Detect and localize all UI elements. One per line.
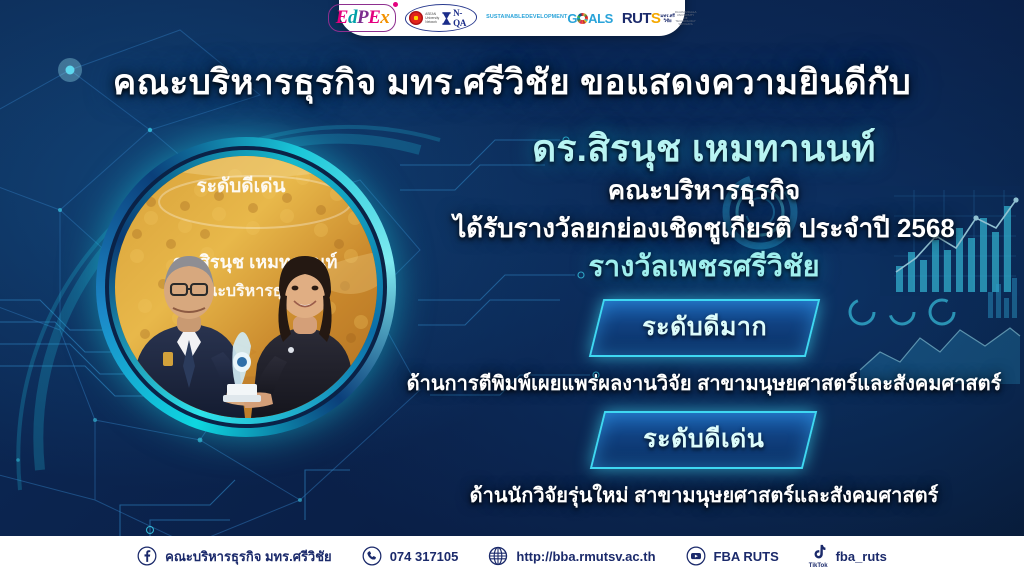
sdg-wheel-icon <box>577 13 588 24</box>
footer-tiktok-label: fba_ruts <box>836 549 887 564</box>
photo-caption-top: ระดับดีเด่น <box>197 175 286 197</box>
award-section-2: ระดับดีเด่น ด้านนักวิจัยรุ่นใหม่ สาขามนุ… <box>396 411 1012 511</box>
aunqa-subtext: ASEAN University Network <box>425 12 440 24</box>
prize-name: รางวัลเพชรศรีวิชัย <box>396 249 1012 287</box>
aunqa-logo: ASEAN University Network N-QA <box>405 4 477 32</box>
accreditation-logo-bar: EdPEx ASEAN University Network N-QA SUST… <box>339 0 685 36</box>
honoree-details: ดร.สิรนุช เหมทานนท์ คณะบริหารธุรกิจ ได้ร… <box>396 126 1012 511</box>
ruts-english-name: RAJAMANGALA UNIVERSITY OF TECHNOLOGY SRI… <box>675 11 696 26</box>
footer-phone-label: 074 317105 <box>390 549 459 564</box>
edpex-dot-icon <box>393 2 398 7</box>
award-level-label-2: ระดับดีเด่น <box>644 419 765 459</box>
award-photo-frame: ระดับดีเด่น ดร.สิรนุช เหมทานนท์ คณะบริหา… <box>96 137 396 437</box>
award-level-label-1: ระดับดีมาก <box>642 307 767 347</box>
footer-website[interactable]: http://bba.rmutsv.ac.th <box>488 546 655 566</box>
contact-footer: คณะบริหารธุรกิจ มทร.ศรีวิชัย 074 317105 … <box>0 536 1024 576</box>
page-title: คณะบริหารธุรกิจ มทร.ศรีวิชัย ขอแสดงความย… <box>0 55 1024 110</box>
ruts-logo: RUTS มทร.ศรีวิชัย RAJAMANGALA UNIVERSITY… <box>622 4 696 32</box>
award-statement: ได้รับรางวัลยกย่องเชิดชูเกียรติ ประจำปี … <box>396 212 1012 246</box>
globe-icon <box>488 546 508 566</box>
award-level-badge-1[interactable]: ระดับดีมาก <box>588 299 819 357</box>
footer-facebook-label: คณะบริหารธุรกิจ มทร.ศรีวิชัย <box>165 546 332 567</box>
award-level-badge-2[interactable]: ระดับดีเด่น <box>590 411 818 469</box>
sdg-line3: GALS <box>567 12 613 25</box>
honoree-name: ดร.สิรนุช เหมทานนท์ <box>396 126 1012 172</box>
footer-facebook[interactable]: คณะบริหารธุรกิจ มทร.ศรีวิชัย <box>137 546 332 567</box>
ruts-wordmark: RUTS <box>622 11 660 26</box>
phone-icon <box>362 546 382 566</box>
sdg-logo: SUSTAINABLE DEVELOPMENT GALS <box>486 4 613 32</box>
ruts-thai-name: มทร.ศรีวิชัย <box>660 14 675 23</box>
footer-youtube[interactable]: FBA RUTS <box>686 546 779 566</box>
youtube-icon <box>686 546 706 566</box>
award-section-1: ระดับดีมาก ด้านการตีพิมพ์เผยแพร่ผลงานวิจ… <box>396 299 1012 399</box>
footer-website-label: http://bba.rmutsv.ac.th <box>516 549 655 564</box>
footer-tiktok[interactable]: TikTok fba_ruts <box>809 544 887 569</box>
hourglass-icon <box>442 12 451 25</box>
sdg-line2: DEVELOPMENT <box>525 15 567 20</box>
footer-phone[interactable]: 074 317105 <box>362 546 459 566</box>
tiktok-icon-label: TikTok <box>809 563 828 569</box>
sdg-line1: SUSTAINABLE <box>486 15 525 20</box>
poster-canvas: EdPEx ASEAN University Network N-QA SUST… <box>0 0 1024 576</box>
award-ceremony-photo: ระดับดีเด่น ดร.สิรนุช เหมทานนท์ คณะบริหา… <box>115 156 377 418</box>
edpex-logo: EdPEx <box>328 4 396 32</box>
footer-youtube-label: FBA RUTS <box>714 549 779 564</box>
tiktok-icon: TikTok <box>809 544 828 569</box>
award-detail-2: ด้านนักวิจัยรุ่นใหม่ สาขามนุษยศาสตร์และส… <box>396 479 1012 511</box>
honoree-faculty: คณะบริหารธุรกิจ <box>396 174 1012 208</box>
award-detail-1: ด้านการตีพิมพ์เผยแพร่ผลงานวิจัย สาขามนุษ… <box>396 367 1012 399</box>
facebook-icon <box>137 546 157 566</box>
aunqa-label: N-QA <box>453 8 470 28</box>
